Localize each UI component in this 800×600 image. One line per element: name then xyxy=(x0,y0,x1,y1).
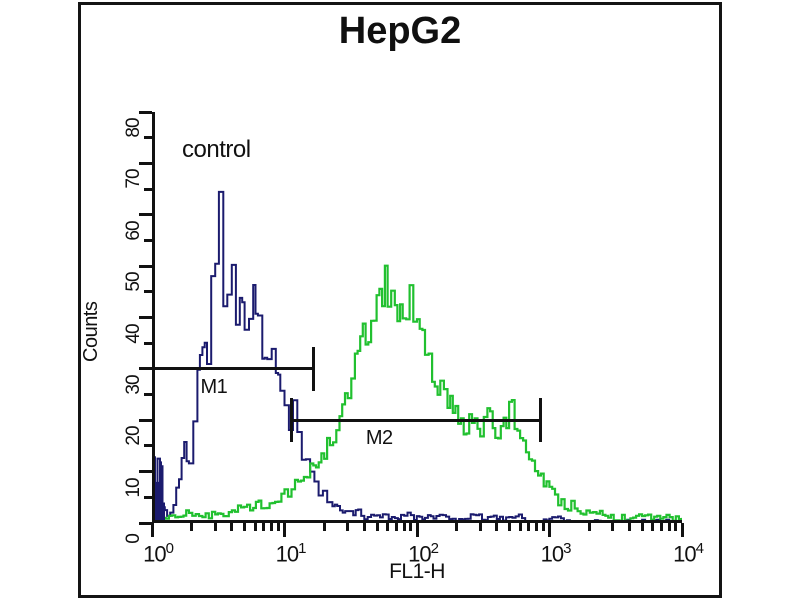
y-tick-label: 60 xyxy=(123,216,145,246)
x-tick-minor xyxy=(519,523,522,531)
y-tick-minor xyxy=(144,342,152,345)
x-tick-minor xyxy=(651,523,654,531)
x-tick-minor xyxy=(376,523,379,531)
gate-end-cap-m1[interactable] xyxy=(312,347,315,391)
x-tick-minor xyxy=(363,523,366,531)
x-tick-label: 101 xyxy=(265,540,317,567)
y-tick-minor xyxy=(144,239,152,242)
x-tick-minor xyxy=(262,523,265,531)
x-tick-minor xyxy=(674,523,677,531)
gate-bar-m2[interactable] xyxy=(291,419,540,422)
y-tick-label: 40 xyxy=(123,319,145,349)
x-tick-minor xyxy=(628,523,631,531)
gate-end-cap-m2[interactable] xyxy=(539,398,542,442)
x-tick-minor xyxy=(409,523,412,531)
y-tick-minor xyxy=(144,188,152,191)
x-tick-major xyxy=(151,523,154,537)
y-tick-minor xyxy=(144,136,152,139)
x-tick-major xyxy=(548,523,551,537)
x-tick-minor xyxy=(270,523,273,531)
x-tick-minor xyxy=(190,523,193,531)
x-tick-minor xyxy=(542,523,545,531)
x-tick-minor xyxy=(668,523,671,531)
x-tick-major xyxy=(283,523,286,537)
flow-cytometry-histogram: Counts FL1-H control 0102030405060708010… xyxy=(152,112,682,523)
x-tick-minor xyxy=(403,523,406,531)
page-title: HepG2 xyxy=(78,10,722,53)
x-tick-minor xyxy=(508,523,511,531)
control-annotation: control xyxy=(182,136,251,164)
x-tick-label: 104 xyxy=(662,540,714,567)
x-tick-label: 100 xyxy=(132,540,184,567)
x-tick-major xyxy=(416,523,419,537)
x-tick-minor xyxy=(277,523,280,531)
x-tick-minor xyxy=(479,523,482,531)
y-tick-minor xyxy=(144,444,152,447)
x-tick-minor xyxy=(346,523,349,531)
gate-start-cap-m2[interactable] xyxy=(290,398,293,442)
x-tick-minor xyxy=(455,523,458,531)
y-tick-label: 80 xyxy=(123,113,145,143)
y-tick-label: 20 xyxy=(123,421,145,451)
x-tick-minor xyxy=(641,523,644,531)
y-tick-label: 70 xyxy=(123,164,145,194)
x-tick-minor xyxy=(254,523,257,531)
x-tick-minor xyxy=(230,523,233,531)
gate-label-m1: M1 xyxy=(200,376,227,399)
x-tick-minor xyxy=(323,523,326,531)
y-tick-minor xyxy=(144,290,152,293)
x-tick-minor xyxy=(495,523,498,531)
x-tick-minor xyxy=(527,523,530,531)
y-tick-label: 30 xyxy=(123,370,145,400)
gate-bar-m1[interactable] xyxy=(152,367,314,370)
x-tick-minor xyxy=(588,523,591,531)
x-tick-minor xyxy=(214,523,217,531)
x-tick-major xyxy=(681,523,684,537)
x-tick-minor xyxy=(660,523,663,531)
x-tick-label: 103 xyxy=(530,540,582,567)
y-tick-label: 50 xyxy=(123,267,145,297)
x-tick-minor xyxy=(386,523,389,531)
x-tick-label: 102 xyxy=(397,540,449,567)
x-tick-minor xyxy=(535,523,538,531)
x-tick-minor xyxy=(611,523,614,531)
x-tick-minor xyxy=(395,523,398,531)
y-tick-minor xyxy=(144,393,152,396)
y-axis-label: Counts xyxy=(80,302,103,362)
plot-axes-box xyxy=(152,112,682,523)
y-tick-minor xyxy=(144,496,152,499)
x-tick-minor xyxy=(243,523,246,531)
gate-label-m2: M2 xyxy=(366,427,393,450)
y-tick-label: 10 xyxy=(123,473,145,503)
